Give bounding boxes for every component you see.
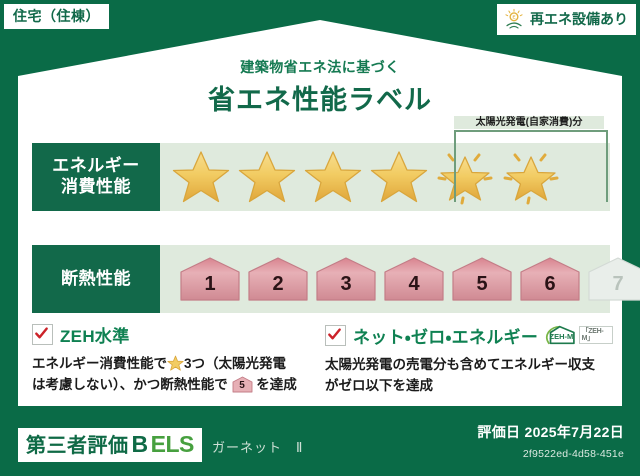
star-icon-solar	[500, 148, 562, 206]
note-header: ネット・ゼロ・エネルギー ZEH-M 「ZEH-M」	[325, 322, 608, 348]
builder-name: ガーネットⅡ	[212, 437, 303, 456]
energy-label-line1: エネルギー	[52, 156, 140, 177]
builder-suffix: Ⅱ	[296, 440, 303, 455]
note-text-part3: を達成	[256, 377, 297, 392]
note-body: エネルギー消費性能で3つ（太陽光発電 は考慮しない）、かつ断熱性能で 5 を達成	[32, 354, 315, 396]
note-text-star: 3つ（太陽光発電	[184, 356, 286, 371]
insulation-grade-value: 3	[340, 274, 351, 303]
star-icon	[170, 148, 232, 206]
builder-label: ガーネット	[212, 440, 282, 455]
star-icon	[302, 148, 364, 206]
energy-label-line2: 消費性能	[61, 177, 131, 198]
evaluation-date: 評価日 2025年7月22日	[477, 422, 624, 442]
renewable-tag-label: 再エネ設備あり	[530, 12, 628, 26]
insulation-grade-value: 5	[476, 274, 487, 303]
insulation-grade-value: 7	[612, 274, 623, 303]
note-body: 太陽光発電の売電分も含めてエネルギー収支がゼロ以下を達成	[325, 355, 608, 397]
zeh-m-logo: ZEH-M 「ZEH-M」	[543, 322, 613, 348]
insulation-label: 断熱性能	[61, 269, 131, 290]
label-title: 省エネ性能ラベル	[0, 78, 640, 117]
insulation-grade-badge: 3	[314, 255, 378, 303]
insulation-badge-inline: 5	[232, 376, 253, 393]
insulation-grade-value: 6	[544, 274, 555, 303]
note-text-part2: は考慮しない）、かつ断熱性能で	[32, 377, 228, 392]
checkbox-checked-icon	[32, 324, 53, 345]
star-icon-inline	[167, 355, 184, 371]
star-icon	[236, 148, 298, 206]
zeh-m-logo-caption: 「ZEH-M」	[579, 326, 613, 344]
renewable-equipment-tag: E 再エネ設備あり	[497, 4, 636, 35]
bels-letter-b: B	[132, 433, 148, 456]
insulation-grade-badge-inactive: 7	[586, 255, 640, 303]
sun-icon: E	[503, 8, 525, 30]
insulation-grade-badge: 5	[450, 255, 514, 303]
house-type-tag: 住宅（住棟）	[4, 4, 109, 29]
evaluation-id: 2f9522ed-4d58-451e	[523, 448, 624, 460]
energy-performance-row: エネルギー 消費性能	[32, 143, 610, 211]
note-text-part1: エネルギー消費性能で	[32, 356, 167, 371]
star-icon	[368, 148, 430, 206]
star-icon-solar	[434, 148, 496, 206]
checkbox-checked-icon	[325, 325, 346, 346]
insulation-grade-value: 4	[408, 274, 419, 303]
note-net-zero-energy: ネット・ゼロ・エネルギー ZEH-M 「ZEH-M」 太陽光発電の売電分も含めて…	[325, 322, 618, 397]
insulation-grades-area: 1 2 3 4 5	[160, 245, 640, 313]
note-title: ZEH水準	[60, 322, 130, 347]
note-title: ネット・ゼロ・エネルギー	[353, 323, 538, 348]
energy-stars-area: 太陽光発電(自家消費)分	[160, 143, 610, 211]
insulation-performance-row: 断熱性能 1 2 3	[32, 245, 610, 313]
bels-badge: 第三者評価BELS	[18, 428, 202, 462]
note-header: ZEH水準	[32, 322, 315, 347]
criteria-notes: ZEH水準 エネルギー消費性能で3つ（太陽光発電 は考慮しない）、かつ断熱性能で…	[32, 322, 618, 397]
energy-performance-label: 住宅（住棟） E 再エネ設備あり 建築物省エネ法に基づく 省エネ性能ラベル	[0, 0, 640, 476]
bels-letters-els: ELS	[151, 433, 194, 456]
insulation-grade-scale: 1 2 3 4 5	[170, 255, 640, 303]
svg-text:E: E	[512, 15, 515, 20]
note-zeh-standard: ZEH水準 エネルギー消費性能で3つ（太陽光発電 は考慮しない）、かつ断熱性能で…	[32, 322, 325, 397]
star-rating	[170, 148, 562, 206]
svg-text:ZEH-M: ZEH-M	[550, 332, 574, 341]
energy-performance-key: エネルギー 消費性能	[32, 143, 160, 211]
insulation-grade-value: 2	[272, 274, 283, 303]
insulation-grade-value: 1	[204, 274, 215, 303]
insulation-performance-key: 断熱性能	[32, 245, 160, 313]
label-subtitle: 建築物省エネ法に基づく	[0, 57, 640, 77]
insulation-grade-badge: 1	[178, 255, 242, 303]
insulation-grade-badge: 2	[246, 255, 310, 303]
insulation-grade-badge: 6	[518, 255, 582, 303]
bels-jp-label: 第三者評価	[26, 436, 129, 456]
footer: 第三者評価BELS ガーネットⅡ 評価日 2025年7月22日 2f9522ed…	[0, 406, 640, 476]
insulation-badge-inline-value: 5	[232, 376, 253, 393]
insulation-grade-badge: 4	[382, 255, 446, 303]
